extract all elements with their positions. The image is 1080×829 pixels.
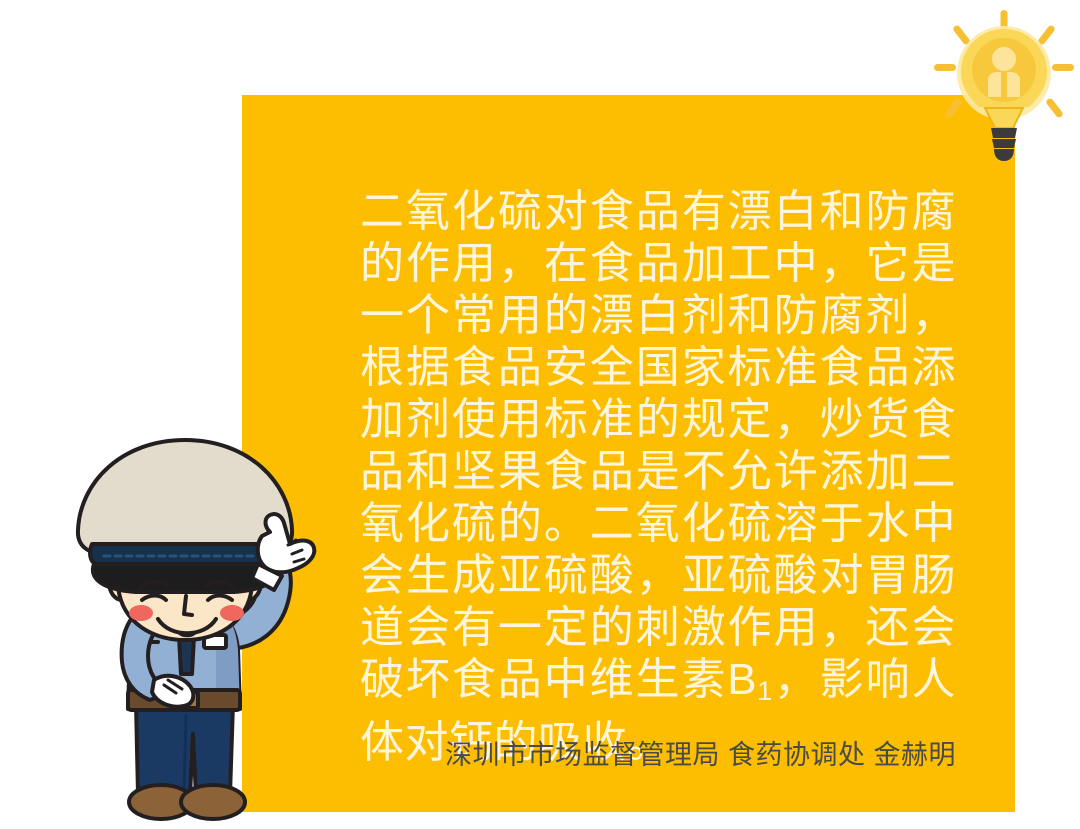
body-text: 二氧化硫对食品有漂白和防腐的作用，在食品加工中，它是一个常用的漂白剂和防腐剂，根…	[360, 186, 956, 769]
attribution-line: 深圳市市场监督管理局 食药协调处 金赫明	[360, 738, 956, 772]
vitamin-subscript: 1	[757, 675, 772, 706]
police-officer-illustration	[58, 404, 358, 829]
body-text-content-9b: ，	[772, 655, 819, 704]
infographic-canvas: 二氧化硫对食品有漂白和防腐的作用，在食品加工中，它是一个常用的漂白剂和防腐剂，根…	[0, 0, 1080, 829]
lightbulb-icon	[928, 2, 1080, 167]
